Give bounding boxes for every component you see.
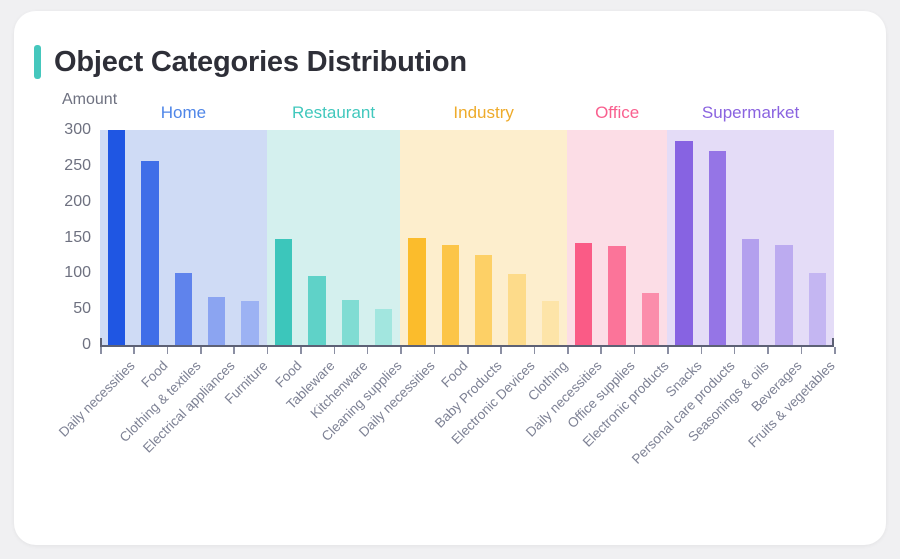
bar[interactable] [108,130,125,345]
x-axis-tick [567,347,569,354]
bar[interactable] [642,293,659,345]
y-axis-tick-label: 0 [82,336,91,354]
bar-chart: Amount 050100150200250300HomeRestaurantI… [14,11,886,545]
x-axis-tick [300,347,302,354]
x-axis-tick [634,347,636,354]
group-label-supermarket: Supermarket [702,103,799,123]
bar[interactable] [141,161,158,345]
y-axis-title: Amount [62,91,117,109]
bar[interactable] [542,301,559,345]
x-axis-tick [834,347,836,354]
x-axis-tick [167,347,169,354]
x-axis-tick [600,347,602,354]
x-axis-tick [767,347,769,354]
bar[interactable] [508,274,525,345]
bar[interactable] [275,239,292,345]
bar[interactable] [475,255,492,345]
x-axis-tick [667,347,669,354]
x-axis-tick [267,347,269,354]
bar[interactable] [408,238,425,346]
bar[interactable] [375,309,392,345]
group-label-restaurant: Restaurant [292,103,375,123]
bar[interactable] [442,245,459,345]
x-axis-tick [133,347,135,354]
bar[interactable] [809,273,826,345]
x-axis-tick [233,347,235,354]
bar[interactable] [342,300,359,345]
bar[interactable] [241,301,258,345]
group-label-industry: Industry [453,103,513,123]
y-axis-tick-label: 300 [64,121,91,139]
x-axis-tick [534,347,536,354]
x-axis-tick [334,347,336,354]
bar[interactable] [709,151,726,345]
y-axis-tick-label: 200 [64,193,91,211]
bar[interactable] [308,276,325,345]
bar[interactable] [208,297,225,345]
x-axis-tick [367,347,369,354]
bar[interactable] [575,243,592,345]
x-axis-tick [100,347,102,354]
x-axis-left-cap [100,338,102,346]
bar[interactable] [775,245,792,345]
x-axis-tick [701,347,703,354]
group-label-home: Home [161,103,206,123]
group-label-office: Office [595,103,639,123]
y-axis-tick-label: 50 [73,300,91,318]
x-axis-tick [400,347,402,354]
chart-card: Object Categories Distribution Amount 05… [14,11,886,545]
y-axis-tick-label: 250 [64,157,91,175]
y-axis-tick-label: 150 [64,229,91,247]
bar[interactable] [675,141,692,345]
x-axis-tick [434,347,436,354]
x-axis-tick [734,347,736,354]
x-axis-tick [500,347,502,354]
x-axis-tick [467,347,469,354]
bar[interactable] [608,246,625,345]
x-axis-right-cap [832,338,834,346]
x-axis-tick [801,347,803,354]
bar[interactable] [742,239,759,345]
x-axis-tick [200,347,202,354]
y-axis-tick-label: 100 [64,264,91,282]
plot-area: 050100150200250300HomeRestaurantIndustry… [100,130,834,345]
bar[interactable] [175,273,192,345]
